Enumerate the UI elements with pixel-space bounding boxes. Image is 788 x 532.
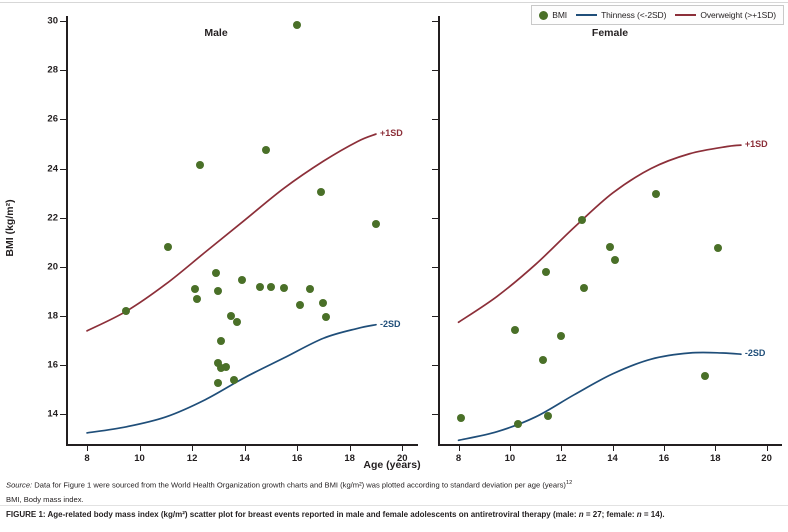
y-axis-title: BMI (kg/m²) (4, 199, 16, 256)
scatter-point (539, 356, 547, 364)
scatter-point (214, 379, 222, 387)
x-tick-label: 12 (187, 453, 198, 464)
overweight-curve (459, 145, 741, 322)
x-tick (715, 446, 716, 451)
x-tick-label: 14 (607, 453, 618, 464)
thinness-curve-label: -2SD (745, 348, 766, 358)
y-tick-label: 20 (34, 261, 58, 272)
x-tick-label: 18 (710, 453, 721, 464)
scatter-point (193, 295, 201, 303)
x-tick-label: 10 (505, 453, 516, 464)
scatter-point (212, 269, 220, 277)
thinness-curve-label: -2SD (380, 319, 401, 329)
x-tick (613, 446, 614, 451)
y-tick-label: 22 (34, 212, 58, 223)
y-tick-label: 30 (34, 15, 58, 26)
scatter-point (606, 243, 614, 251)
x-tick (561, 446, 562, 451)
scatter-point (578, 216, 586, 224)
x-tick (459, 446, 460, 451)
source-label: Source: (6, 481, 32, 490)
scatter-point (296, 301, 304, 309)
scatter-point (701, 372, 709, 380)
scatter-point (306, 285, 314, 293)
scatter-point (122, 307, 130, 315)
overweight-curve-label: +1SD (380, 128, 403, 138)
x-tick (767, 446, 768, 451)
scatter-point (191, 285, 199, 293)
x-tick (350, 446, 351, 451)
x-tick-label: 16 (292, 453, 303, 464)
y-tick-label: 16 (34, 360, 58, 371)
source-line: Source: Data for Figure 1 were sourced f… (6, 481, 784, 489)
scatter-point (217, 337, 225, 345)
scatter-point (319, 299, 327, 307)
scatter-point (322, 313, 330, 321)
scatter-point (256, 283, 264, 291)
scatter-point (238, 276, 246, 284)
x-axis-line (438, 444, 782, 446)
scatter-point (544, 412, 552, 420)
x-tick-label: 18 (344, 453, 355, 464)
scatter-point (580, 284, 588, 292)
scatter-point (293, 21, 301, 29)
abbreviation-line: BMI, Body mass index. (6, 496, 784, 504)
x-axis-title: Age (years) (363, 459, 420, 471)
x-tick-label: 10 (134, 453, 145, 464)
scatter-point (196, 161, 204, 169)
scatter-point (714, 244, 722, 252)
thinness-curve (459, 352, 741, 440)
figure-caption-text: Age-related body mass index (kg/m²) scat… (46, 510, 579, 519)
scatter-point (280, 284, 288, 292)
x-tick (402, 446, 403, 451)
scatter-point (230, 376, 238, 384)
scatter-point (222, 363, 230, 371)
overweight-curve-label: +1SD (745, 139, 768, 149)
scatter-point (372, 220, 380, 228)
figure-n-female: = 14). (642, 510, 665, 519)
x-tick-label: 12 (556, 453, 567, 464)
x-tick-label: 8 (456, 453, 461, 464)
caption-block: Source: Data for Figure 1 were sourced f… (6, 481, 784, 526)
scatter-point (514, 420, 522, 428)
scatter-point (457, 414, 465, 422)
x-tick (192, 446, 193, 451)
y-tick-label: 24 (34, 163, 58, 174)
scatter-point (611, 256, 619, 264)
scatter-point (214, 287, 222, 295)
scatter-point (652, 190, 660, 198)
x-tick-label: 20 (761, 453, 772, 464)
scatter-point (267, 283, 275, 291)
scatter-point (262, 146, 270, 154)
x-tick (510, 446, 511, 451)
y-tick-label: 14 (34, 409, 58, 420)
scatter-point (542, 268, 550, 276)
x-axis-line (66, 444, 418, 446)
x-tick (664, 446, 665, 451)
panel-male: 1416182022242628308101214161820Male+1SD-… (66, 16, 418, 444)
y-tick-label: 28 (34, 65, 58, 76)
scatter-point (511, 326, 519, 334)
figure-n-male: = 27; female: (584, 510, 637, 519)
y-tick-label: 18 (34, 311, 58, 322)
panel-female: 8101214161820Female+1SD-2SD (438, 16, 782, 444)
x-tick-label: 14 (239, 453, 250, 464)
scatter-point (164, 243, 172, 251)
figure-caption-line: FIGURE 1: Age-related body mass index (k… (6, 511, 784, 519)
x-tick (140, 446, 141, 451)
y-tick-label: 26 (34, 114, 58, 125)
x-tick (297, 446, 298, 451)
reference-curves (438, 16, 782, 444)
figure-container: BMI Thinness (<-2SD) Overweight (>+1SD) … (0, 0, 788, 532)
scatter-point (557, 332, 565, 340)
source-text: Data for Figure 1 were sourced from the … (32, 481, 566, 490)
top-divider (0, 2, 788, 3)
scatter-point (317, 188, 325, 196)
x-tick (87, 446, 88, 451)
overweight-curve (87, 134, 376, 331)
source-citation: 12 (566, 480, 572, 486)
x-tick (245, 446, 246, 451)
figure-number: FIGURE 1: (6, 510, 46, 519)
reference-curves (66, 16, 418, 444)
x-tick-label: 16 (659, 453, 670, 464)
x-tick-label: 8 (84, 453, 89, 464)
scatter-point (233, 318, 241, 326)
x-tick-label: 20 (397, 453, 408, 464)
